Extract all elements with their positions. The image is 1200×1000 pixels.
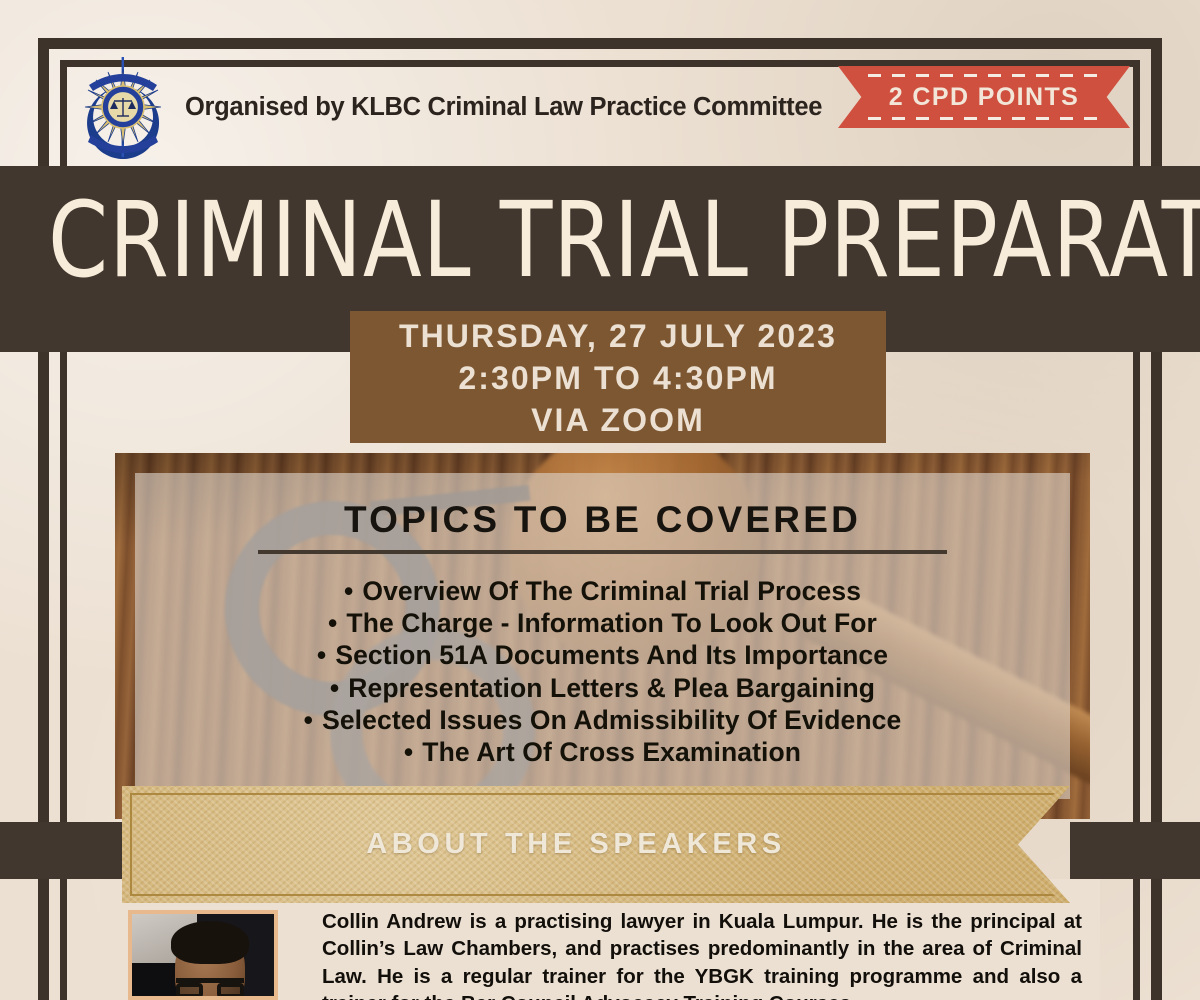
speaker-portrait-photo	[128, 910, 278, 1000]
event-time: 2:30PM TO 4:30PM	[458, 357, 777, 399]
page-title: CRIMINAL TRIAL PREPARATION	[48, 188, 1152, 292]
about-speakers-heading: ABOUT THE SPEAKERS	[122, 786, 1030, 903]
list-item: The Charge - Information To Look Out For	[135, 607, 1070, 639]
portrait-glasses	[176, 978, 244, 1000]
list-item: Selected Issues On Admissibility Of Evid…	[135, 704, 1070, 736]
cpd-dashed-line-top	[868, 74, 1100, 77]
list-item: Overview Of The Criminal Trial Process	[135, 575, 1070, 607]
cpd-dashed-line-bottom	[868, 117, 1100, 120]
list-item: Section 51A Documents And Its Importance	[135, 639, 1070, 671]
list-item: The Art Of Cross Examination	[135, 736, 1070, 768]
ribbon-shadow-tab-right	[1070, 822, 1200, 879]
topics-panel: TOPICS TO BE COVERED Overview Of The Cri…	[115, 453, 1090, 819]
event-poster: Organised by KLBC Criminal Law Practice …	[0, 0, 1200, 1000]
cpd-points-badge: 2 CPD POINTS	[838, 66, 1130, 128]
organiser-label: Organised by KLBC Criminal Law Practice …	[185, 93, 822, 122]
event-platform: VIA ZOOM	[531, 399, 705, 441]
topics-divider	[258, 550, 947, 554]
poster-header: Organised by KLBC Criminal Law Practice …	[75, 52, 1130, 162]
topics-list: Overview Of The Criminal Trial Process T…	[135, 575, 1070, 768]
topics-heading: TOPICS TO BE COVERED	[135, 499, 1070, 541]
portrait-hair	[171, 921, 249, 964]
event-date: THURSDAY, 27 JULY 2023	[399, 315, 837, 357]
list-item: Representation Letters & Plea Bargaining	[135, 672, 1070, 704]
bar-council-logo-icon	[75, 55, 171, 159]
topics-content: TOPICS TO BE COVERED Overview Of The Cri…	[135, 473, 1070, 799]
event-details-box: THURSDAY, 27 JULY 2023 2:30PM TO 4:30PM …	[350, 311, 886, 443]
cpd-points-label: 2 CPD POINTS	[889, 83, 1079, 112]
speaker-bio-text: Collin Andrew is a practising lawyer in …	[322, 908, 1082, 1000]
